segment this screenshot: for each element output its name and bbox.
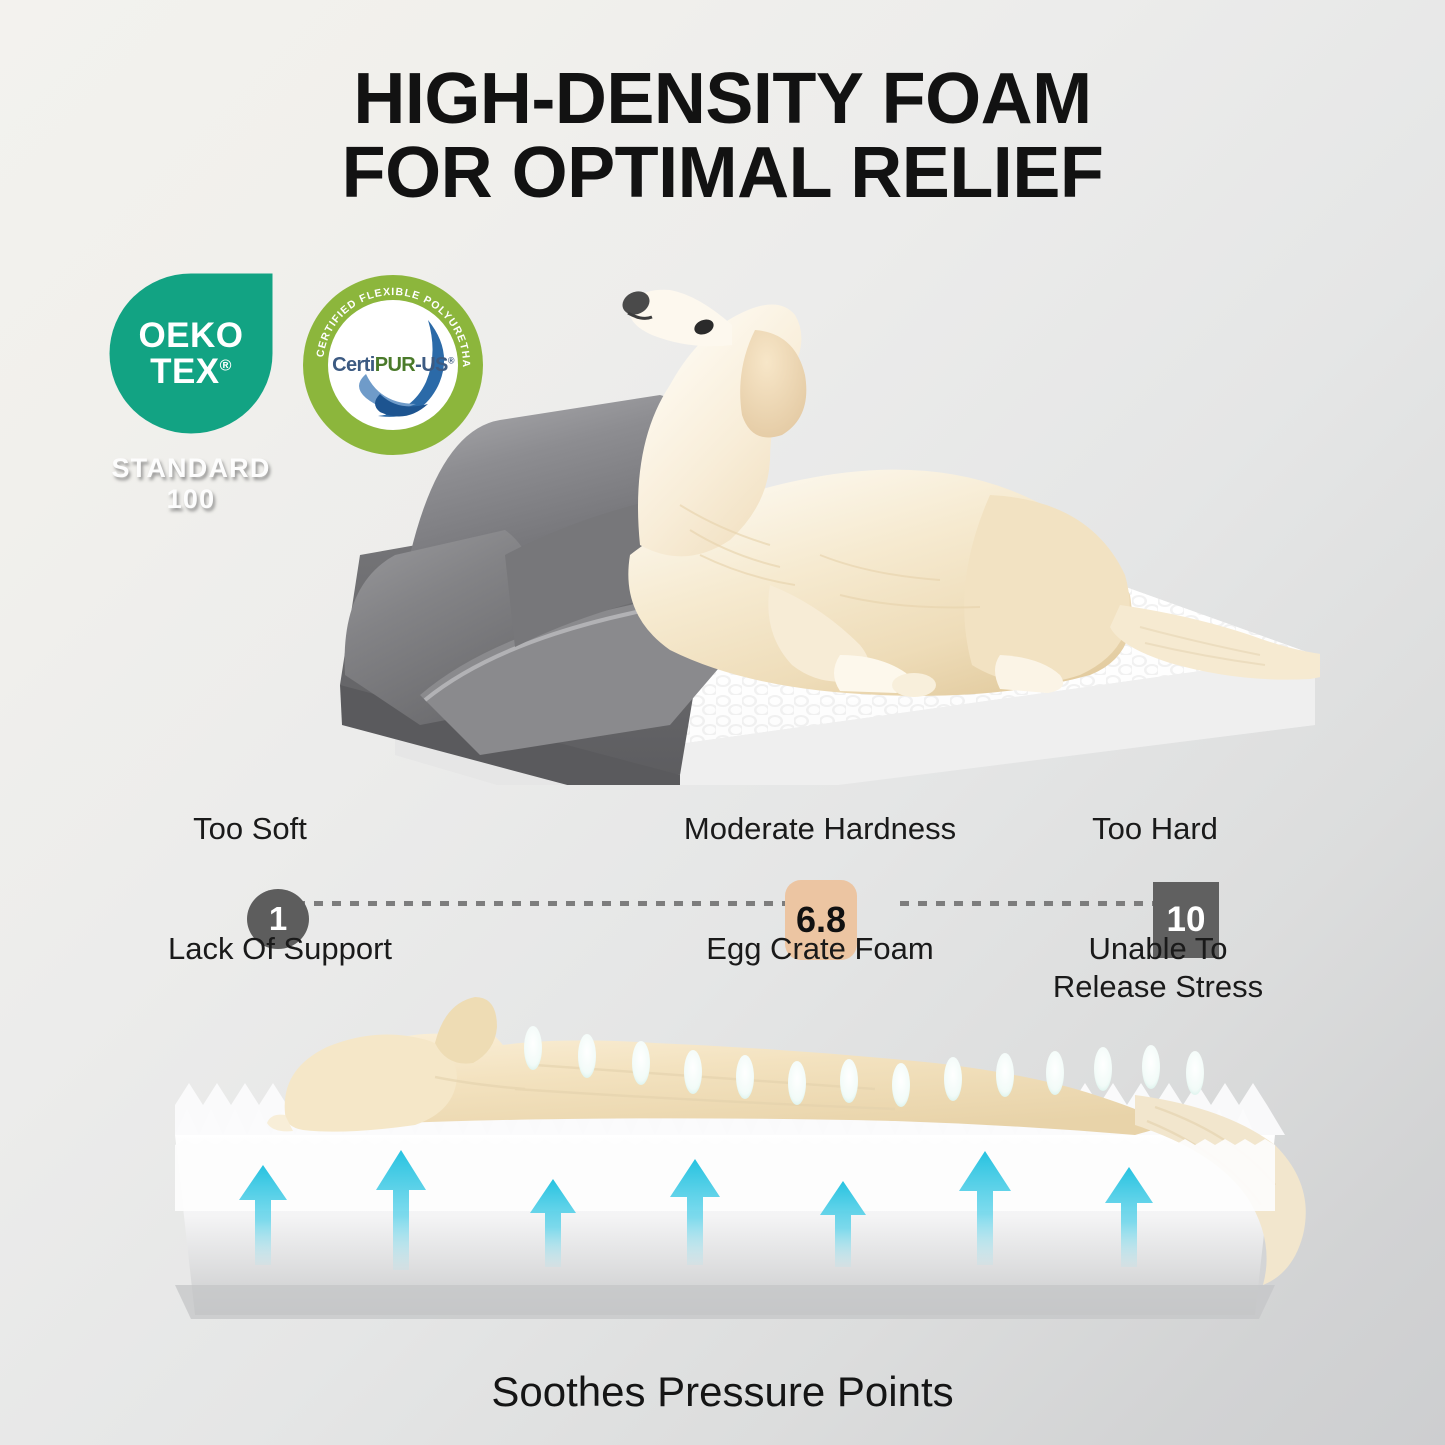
label-lack-of-support: Lack Of Support	[168, 930, 392, 968]
certipur-center: CertiPUR-US®	[328, 300, 458, 430]
title-line-2: FOR OPTIMAL RELIEF	[0, 136, 1445, 210]
scale-track: 1 6.8 10	[170, 870, 1280, 936]
oeko-tex-line-2: TEX®	[150, 354, 232, 390]
oeko-tex-droplet-shape: OEKO TEX®	[110, 274, 273, 434]
bottom-caption: Soothes Pressure Points	[0, 1368, 1445, 1416]
certipur-us-badge: CONTAINS CERTIFIED FLEXIBLE POLYURETHANE…	[303, 275, 483, 455]
standard-text: STANDARD	[96, 453, 286, 484]
label-too-soft: Too Soft	[193, 810, 307, 848]
hardness-scale: Too Soft Moderate Hardness Too Hard 1 6.…	[170, 810, 1280, 1000]
unable-line-1: Unable To	[1053, 930, 1263, 968]
oeko-tex-badge: OEKO TEX® STANDARD 100	[96, 272, 286, 515]
title-line-1: HIGH-DENSITY FOAM	[0, 62, 1445, 136]
oeko-tex-standard-label: STANDARD 100	[96, 453, 286, 515]
label-too-hard: Too Hard	[1092, 810, 1218, 848]
pressure-point-diagram-photo	[135, 985, 1315, 1355]
page-title: HIGH-DENSITY FOAM FOR OPTIMAL RELIEF	[0, 62, 1445, 210]
registered-mark-icon: ®	[220, 357, 232, 374]
scale-dash-segment-left	[278, 901, 853, 906]
label-egg-crate-foam: Egg Crate Foam	[706, 930, 933, 968]
label-moderate-hardness: Moderate Hardness	[684, 810, 956, 848]
oeko-tex-line-1: OEKO	[138, 318, 243, 354]
certipur-wordmark: CertiPUR-US®	[332, 354, 454, 377]
standard-number: 100	[96, 484, 286, 515]
scale-dash-segment-right	[900, 901, 1165, 906]
